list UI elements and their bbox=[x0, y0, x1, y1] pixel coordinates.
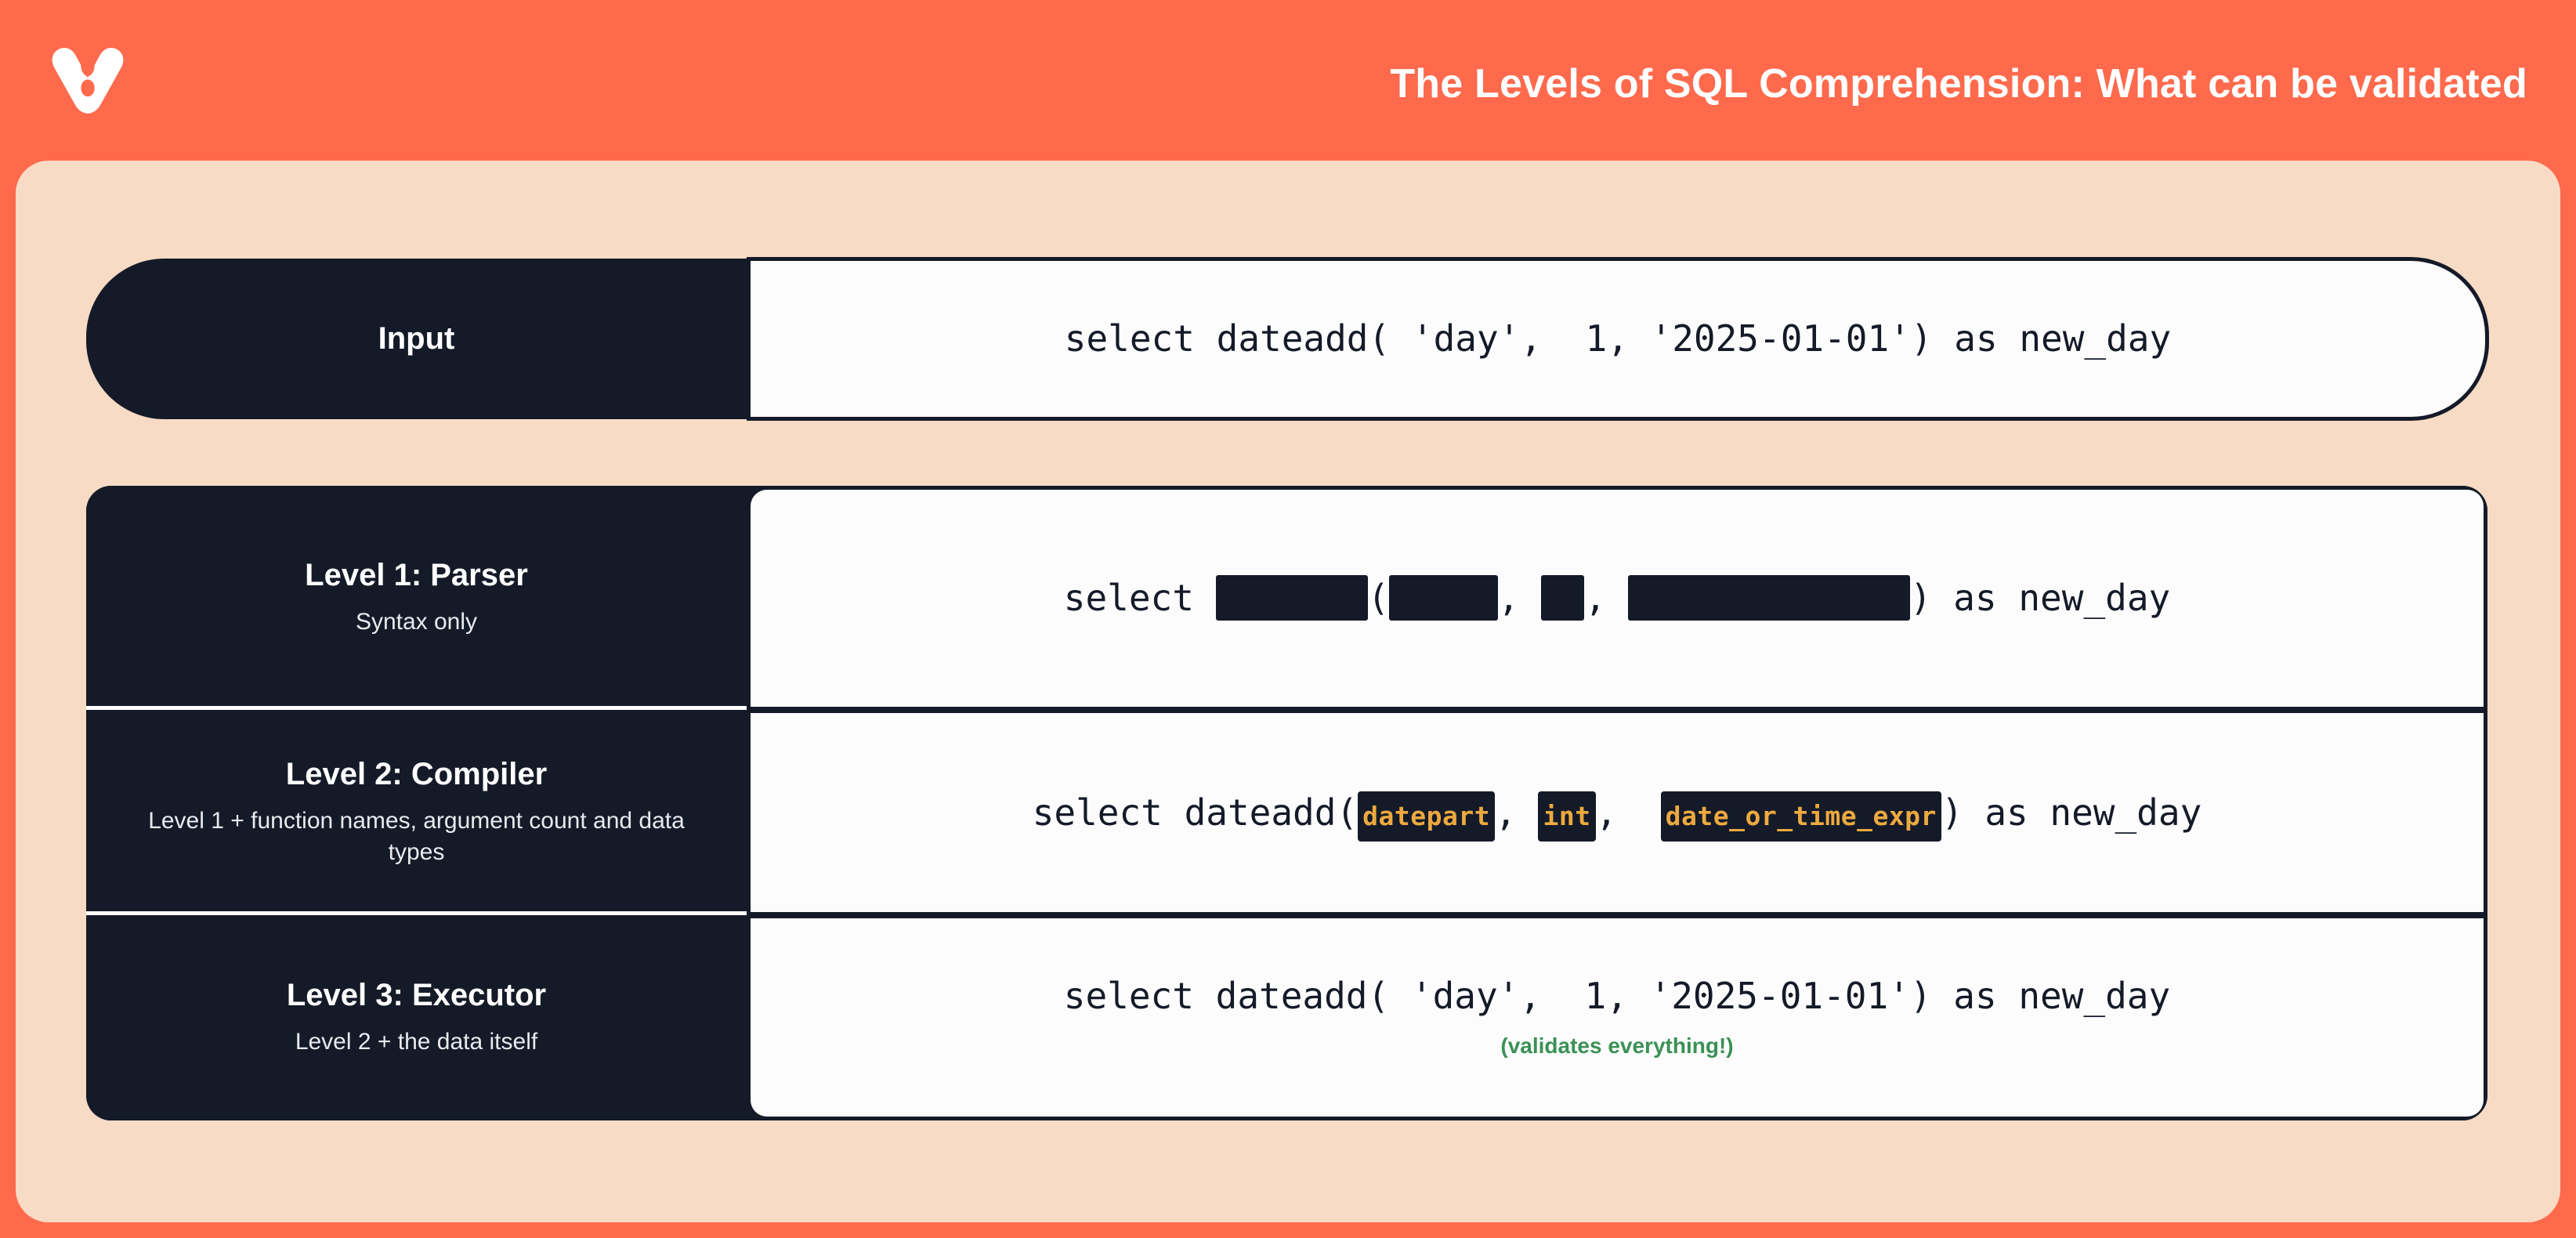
input-row-code: select dateadd( 'day', 1, '2025-01-01') … bbox=[1065, 319, 2171, 359]
level-3-note: (validates everything!) bbox=[1500, 1033, 1733, 1059]
level-3-title: Level 3: Executor bbox=[287, 978, 546, 1012]
level-1-code: select dateadd('day', 1, '2025-01-01') a… bbox=[1064, 578, 2170, 618]
redacted-token: '2025-01-01' bbox=[1628, 575, 1910, 621]
code-text: , bbox=[1498, 577, 1541, 619]
type-token: date_or_time_expr bbox=[1661, 791, 1941, 842]
code-text: ( bbox=[1368, 577, 1390, 619]
level-row: Level 2: Compiler Level 1 + function nam… bbox=[86, 710, 2487, 915]
levels-card: Level 1: Parser Syntax only select datea… bbox=[86, 486, 2487, 1120]
level-2-title: Level 2: Compiler bbox=[286, 757, 547, 791]
level-1-code-panel: select dateadd('day', 1, '2025-01-01') a… bbox=[747, 486, 2487, 710]
type-token: datepart bbox=[1358, 791, 1495, 842]
code-text: , bbox=[1495, 791, 1538, 834]
redacted-token: 1 bbox=[1541, 575, 1584, 621]
redacted-token: 'day' bbox=[1389, 575, 1497, 621]
code-text: , bbox=[1584, 577, 1627, 619]
input-row: Input select dateadd( 'day', 1, '2025-01… bbox=[86, 259, 2487, 419]
level-3-label-cell: Level 3: Executor Level 2 + the data its… bbox=[86, 915, 747, 1120]
level-1-subtitle: Syntax only bbox=[356, 606, 477, 638]
level-3-code: select dateadd( 'day', 1, '2025-01-01') … bbox=[1064, 976, 2170, 1016]
level-1-label-cell: Level 1: Parser Syntax only bbox=[86, 486, 747, 710]
level-row: Level 1: Parser Syntax only select datea… bbox=[86, 486, 2487, 710]
code-text: ) as new_day bbox=[1941, 791, 2202, 834]
header-bar: The Levels of SQL Comprehension: What ca… bbox=[0, 0, 2576, 165]
code-text: select dateadd( 'day', 1, '2025-01-01') … bbox=[1064, 975, 2170, 1017]
code-text: select dateadd( bbox=[1033, 791, 1358, 834]
type-token: int bbox=[1538, 791, 1595, 842]
input-row-code-panel: select dateadd( 'day', 1, '2025-01-01') … bbox=[747, 257, 2489, 421]
level-3-code-panel: select dateadd( 'day', 1, '2025-01-01') … bbox=[747, 915, 2487, 1120]
poster-root: The Levels of SQL Comprehension: What ca… bbox=[0, 0, 2576, 1238]
code-text: select bbox=[1064, 577, 1216, 619]
level-3-subtitle: Level 2 + the data itself bbox=[295, 1026, 537, 1058]
level-2-code-panel: select dateadd(datepart, int, date_or_ti… bbox=[747, 710, 2487, 915]
redacted-token: dateadd bbox=[1216, 575, 1368, 621]
page-title: The Levels of SQL Comprehension: What ca… bbox=[1390, 60, 2527, 107]
level-2-label-cell: Level 2: Compiler Level 1 + function nam… bbox=[86, 710, 747, 915]
x-mark-logo-icon bbox=[45, 42, 130, 127]
level-1-title: Level 1: Parser bbox=[305, 558, 528, 592]
level-2-subtitle: Level 1 + function names, argument count… bbox=[122, 805, 711, 867]
level-2-code: select dateadd(datepart, int, date_or_ti… bbox=[1033, 793, 2202, 833]
level-row: Level 3: Executor Level 2 + the data its… bbox=[86, 915, 2487, 1120]
input-row-label: Input bbox=[86, 259, 747, 419]
code-text: ) as new_day bbox=[1910, 577, 2170, 619]
code-text: , bbox=[1596, 791, 1661, 834]
